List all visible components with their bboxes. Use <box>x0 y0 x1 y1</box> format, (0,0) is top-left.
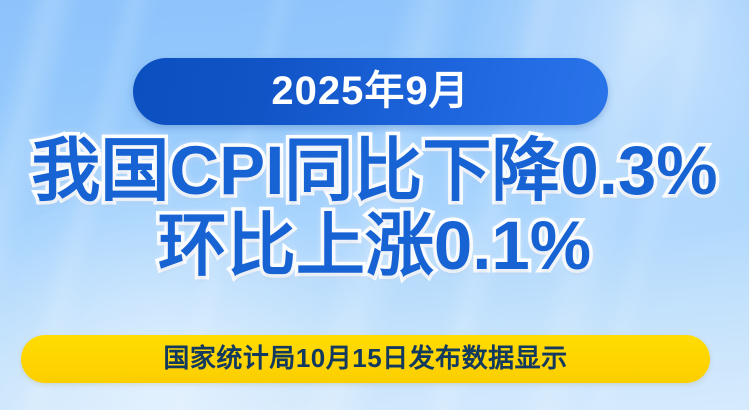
source-badge-label: 国家统计局10月15日发布数据显示 <box>163 345 567 373</box>
source-badge: 国家统计局10月15日发布数据显示 <box>21 335 710 383</box>
date-badge-label: 2025年9月 <box>271 71 469 113</box>
cpi-announcement-poster: 2025年9月 我国CPI同比下降0.3% 环比上涨0.1% 国家统计局10月1… <box>0 0 749 410</box>
headline-block: 我国CPI同比下降0.3% 环比上涨0.1% <box>0 134 749 282</box>
headline-line-2: 环比上涨0.1% <box>0 209 749 282</box>
headline-line-1: 我国CPI同比下降0.3% <box>0 134 749 207</box>
date-badge: 2025年9月 <box>133 58 608 125</box>
